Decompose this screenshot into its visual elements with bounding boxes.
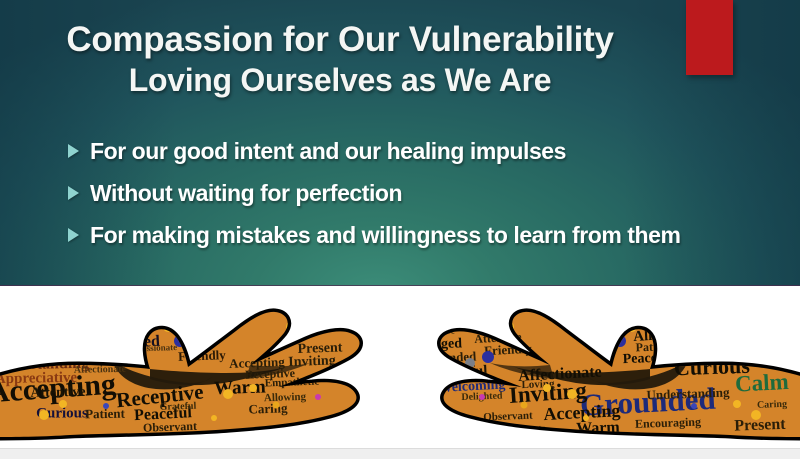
- bullet-text: For making mistakes and willingness to l…: [90, 222, 680, 249]
- wordcloud-accent-dot: [583, 415, 589, 421]
- wordcloud-accent-dot: [211, 415, 217, 421]
- hands-word-cloud-image: AcceptingEmpatheticUnderstandingApprecia…: [0, 287, 800, 448]
- wordcloud-accent-dot: [691, 403, 697, 409]
- red-accent-bar: [686, 0, 733, 75]
- left-hand: AcceptingEmpatheticUnderstandingApprecia…: [0, 287, 400, 448]
- wordcloud-word: Compassionate: [119, 342, 178, 354]
- wordcloud-accent-dot: [751, 410, 761, 420]
- wordcloud-accent-dot: [673, 329, 684, 340]
- panel-bottom-rule: [0, 285, 800, 286]
- wordcloud-accent-dot: [249, 384, 257, 392]
- slide-title: Compassion for Our Vulnerability Loving …: [20, 22, 660, 96]
- bullet-text: Without waiting for perfection: [90, 180, 402, 207]
- wordcloud-accent-dot: [59, 400, 67, 408]
- wordcloud-word: Present: [297, 340, 343, 357]
- wordcloud-accent-dot: [651, 321, 657, 327]
- right-hand-wordcloud: GroundedCuriousCalmLovingAllowingPeacefu…: [400, 287, 800, 448]
- wordcloud-word: Caring: [757, 399, 787, 411]
- wordcloud-word: Allowing: [264, 391, 307, 404]
- wordcloud-accent-dot: [733, 400, 741, 408]
- wordcloud-accent-dot: [223, 389, 233, 399]
- wordcloud-accent-dot: [567, 389, 577, 399]
- wordcloud-word: Calm: [734, 369, 789, 397]
- wordcloud-accent-dot: [695, 339, 705, 349]
- bullet-item: For our good intent and our healing impu…: [68, 137, 768, 165]
- wordcloud-word: Encouraging: [635, 415, 701, 431]
- title-line-primary: Compassion for Our Vulnerability: [20, 22, 660, 58]
- wordcloud-accent-dot: [143, 321, 149, 327]
- bullet-text: For our good intent and our healing impu…: [90, 138, 566, 165]
- wordcloud-word: Calm: [178, 324, 218, 344]
- bullet-item: For making mistakes and willingness to l…: [68, 221, 768, 249]
- wordcloud-accent-dot: [315, 394, 321, 400]
- presentation-slide: Compassion for Our Vulnerability Loving …: [0, 0, 800, 459]
- wordcloud-word: Engaged: [9, 329, 50, 342]
- wordcloud-word: Loving: [688, 339, 737, 358]
- wordcloud-accent-dot: [192, 321, 201, 330]
- wordcloud-word: Engaged: [410, 336, 463, 353]
- wordcloud-word: Compassionate: [671, 328, 730, 340]
- triangle-bullet-icon: [68, 144, 79, 158]
- wordcloud-accent-dot: [543, 384, 551, 392]
- wordcloud-accent-dot: [39, 410, 49, 420]
- wordcloud-word: Receptive: [744, 342, 787, 354]
- wordcloud-word: Empathetic: [3, 335, 93, 358]
- title-line-secondary: Loving Ourselves as We Are: [20, 64, 660, 97]
- bottom-edge-band: [0, 448, 800, 459]
- left-hand-wordcloud: AcceptingEmpatheticUnderstandingApprecia…: [0, 287, 400, 448]
- triangle-bullet-icon: [68, 186, 79, 200]
- right-hand: GroundedCuriousCalmLovingAllowingPeacefu…: [400, 287, 800, 448]
- wordcloud-accent-dot: [273, 402, 280, 409]
- wordcloud-accent-dot: [482, 351, 494, 363]
- bullet-item: Without waiting for perfection: [68, 179, 768, 207]
- wordcloud-word: Attentive: [30, 385, 85, 401]
- wordcloud-accent-dot: [117, 329, 128, 340]
- wordcloud-accent-dot: [521, 402, 528, 409]
- bullet-list: For our good intent and our healing impu…: [68, 137, 768, 263]
- wordcloud-word: Present: [734, 416, 786, 435]
- wordcloud-accent-dot: [479, 394, 485, 400]
- hands-illustration: AcceptingEmpatheticUnderstandingApprecia…: [0, 287, 800, 448]
- wordcloud-accent-dot: [103, 403, 109, 409]
- wordcloud-accent-dot: [600, 321, 609, 330]
- triangle-bullet-icon: [68, 228, 79, 242]
- wordcloud-word: Grateful: [159, 401, 196, 413]
- wordcloud-word: Receptive: [245, 366, 296, 382]
- wordcloud-word: Understanding: [646, 385, 730, 403]
